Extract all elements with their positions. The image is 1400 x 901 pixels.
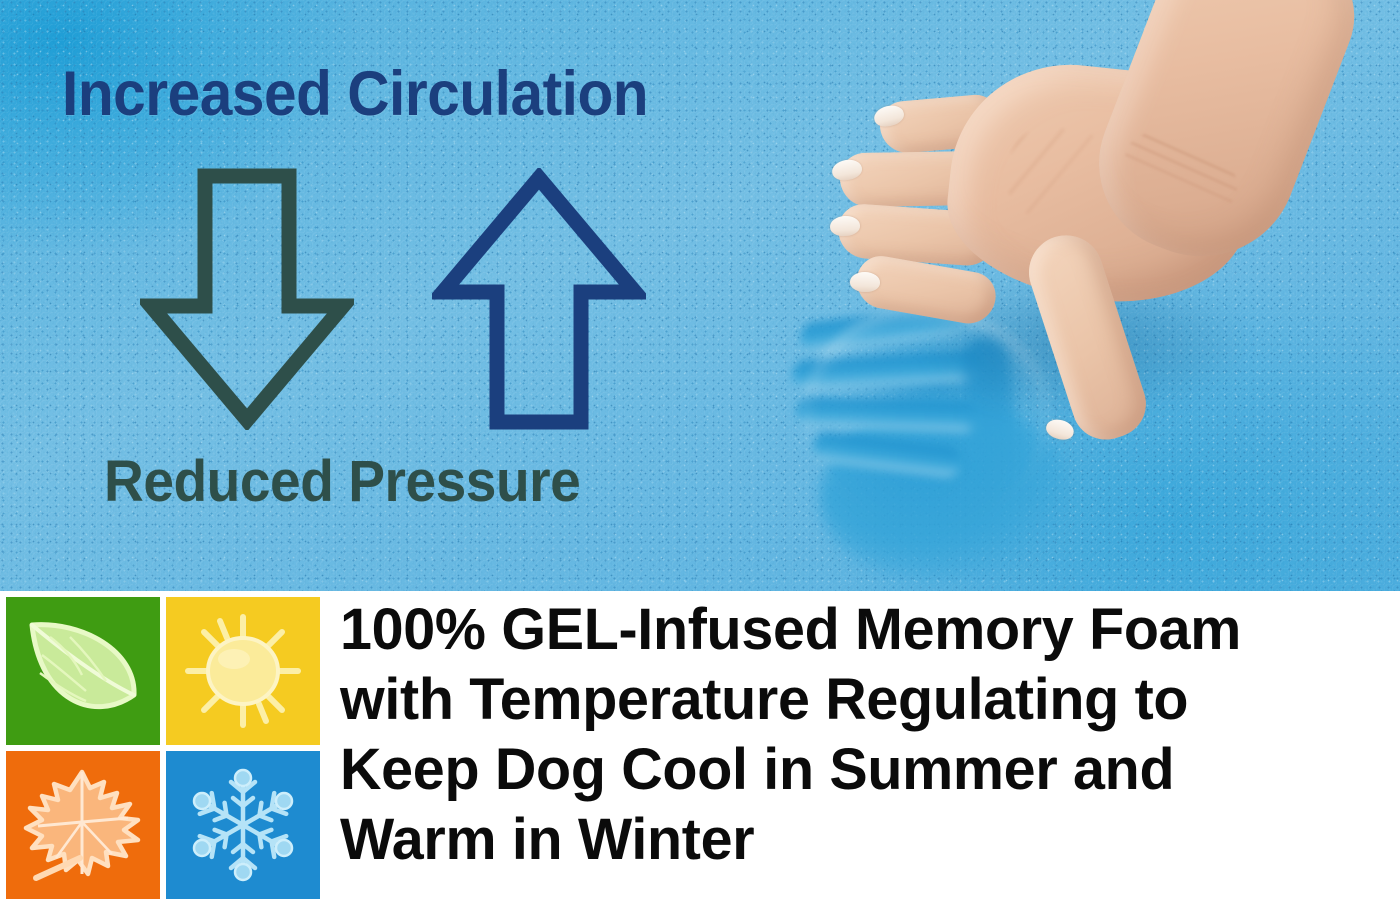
season-tile-autumn — [6, 751, 160, 899]
down-arrow-icon — [140, 168, 354, 435]
leaf-icon — [20, 611, 146, 731]
increased-circulation-label: Increased Circulation — [62, 58, 648, 130]
reduced-pressure-label: Reduced Pressure — [104, 448, 580, 515]
up-arrow-icon — [432, 168, 646, 435]
product-feature-graphic: Increased Circulation Reduced Pressure — [0, 0, 1400, 901]
season-tile-spring — [6, 597, 160, 745]
season-icon-grid — [0, 591, 330, 901]
headline-line-2: with Temperature Regulating to — [340, 665, 1389, 735]
season-tile-winter — [166, 751, 320, 899]
headline-line-1: 100% GEL-Infused Memory Foam — [340, 595, 1389, 665]
memory-foam-photo: Increased Circulation Reduced Pressure — [0, 0, 1400, 591]
thumbnail — [1044, 417, 1076, 443]
snowflake-icon — [181, 766, 305, 884]
feature-band: 100% GEL-Infused Memory Foam with Temper… — [0, 591, 1400, 901]
maple-leaf-icon — [20, 766, 146, 884]
season-tile-summer — [166, 597, 320, 745]
fingernail — [850, 271, 881, 292]
sun-icon — [182, 611, 304, 731]
hand — [770, 0, 1400, 490]
headline-text: 100% GEL-Infused Memory Foam with Temper… — [330, 591, 1400, 875]
headline-line-4: Warm in Winter — [340, 805, 1389, 875]
headline-line-3: Keep Dog Cool in Summer and — [340, 735, 1389, 805]
